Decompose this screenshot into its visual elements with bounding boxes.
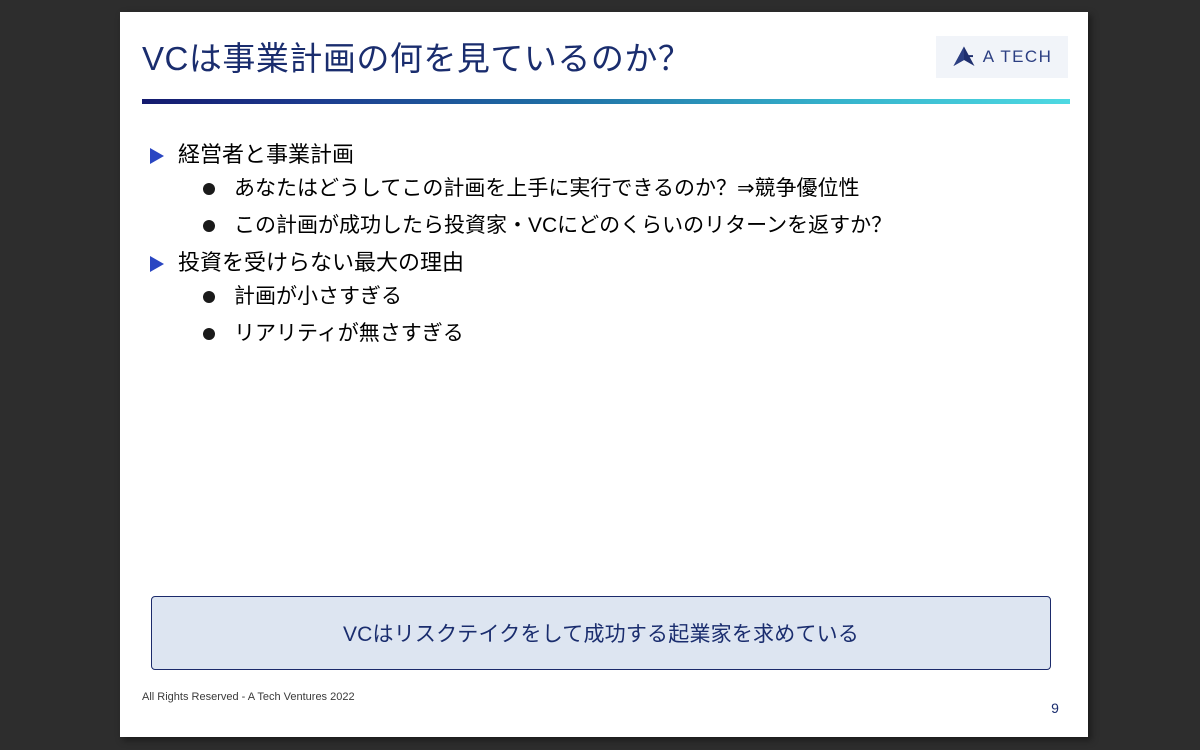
bullet-level2: リアリティが無さすぎる — [142, 323, 1062, 344]
a-arrow-mark-icon — [952, 45, 976, 69]
triangle-right-icon — [150, 256, 164, 272]
callout-text: VCはリスクテイクをして成功する起業家を求めている — [343, 618, 859, 648]
bullet-group: 投資を受けらない最大の理由 計画が小さすぎる リアリティが無さすぎる — [142, 252, 1062, 344]
triangle-right-icon — [150, 148, 164, 164]
bullet-level2-label: この計画が成功したら投資家・VCにどのくらいのリターンを返すか？ — [234, 214, 892, 237]
callout-box: VCはリスクテイクをして成功する起業家を求めている — [151, 596, 1051, 670]
bullet-level1: 投資を受けらない最大の理由 — [142, 252, 1062, 274]
filled-circle-icon — [203, 183, 215, 195]
bullet-level1: 経営者と事業計画 — [142, 144, 1062, 166]
filled-circle-icon — [203, 328, 215, 340]
bullet-level2-label: リアリティが無さすぎる — [234, 322, 464, 345]
filled-circle-icon — [203, 291, 215, 303]
page-number: 9 — [1045, 700, 1065, 716]
slide-canvas: VCは事業計画の何を見ているのか？ A TECH 経営者と事業計画 あなたはどう… — [120, 12, 1088, 737]
bullet-level1-label: 経営者と事業計画 — [178, 142, 354, 167]
bullet-level2: この計画が成功したら投資家・VCにどのくらいのリターンを返すか？ — [142, 215, 1062, 236]
bullet-level2: あなたはどうしてこの計画を上手に実行できるのか？⇒競争優位性 — [142, 178, 1062, 199]
bullet-level2-label: あなたはどうしてこの計画を上手に実行できるのか？⇒競争優位性 — [234, 177, 860, 200]
page-title: VCは事業計画の何を見ているのか？ — [142, 32, 691, 80]
title-divider — [142, 99, 1070, 104]
bullet-level1-label: 投資を受けらない最大の理由 — [178, 250, 464, 275]
logo: A TECH — [936, 36, 1068, 78]
filled-circle-icon — [203, 220, 215, 232]
bullet-list: 経営者と事業計画 あなたはどうしてこの計画を上手に実行できるのか？⇒競争優位性 … — [142, 144, 1062, 360]
bullet-level2-label: 計画が小さすぎる — [234, 285, 402, 308]
logo-text: A TECH — [983, 47, 1053, 67]
footer-copyright: All Rights Reserved - A Tech Ventures 20… — [142, 691, 355, 703]
bullet-level2: 計画が小さすぎる — [142, 286, 1062, 307]
bullet-group: 経営者と事業計画 あなたはどうしてこの計画を上手に実行できるのか？⇒競争優位性 … — [142, 144, 1062, 236]
